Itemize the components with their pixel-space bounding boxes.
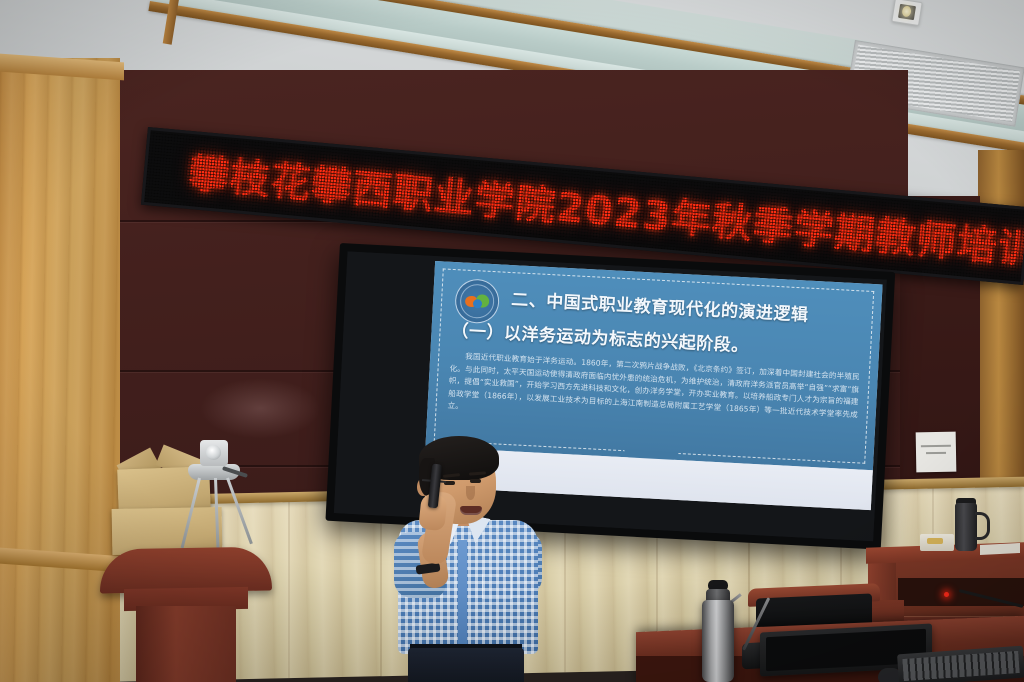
conference-room-photo: 攀枝花攀西职业学院2023年秋季学期教师培训会 二、中国式职业教育现代化的演进逻… [0,0,1024,682]
black-thermos-flask[interactable] [955,503,977,551]
silver-thermos-flask[interactable] [702,600,734,682]
presenter [386,436,546,682]
thermos-handle [975,512,990,540]
paper-notice-line [921,445,951,448]
paper-notice [916,432,957,473]
eye [470,479,481,483]
tissue-box[interactable] [920,534,954,551]
mouth [460,506,482,515]
tissue-sheet [927,538,943,544]
downlight-icon [891,0,922,26]
paper-notice-line [926,452,946,454]
camera-lens-icon [206,445,221,460]
napkin [980,543,1020,555]
trousers [408,648,524,682]
shirt-placket [458,540,467,652]
podium-body [136,606,236,682]
power-indicator-icon [944,592,949,597]
keyboard-keys [902,651,1019,681]
shirt-pocket [482,574,512,599]
nose [466,486,475,500]
